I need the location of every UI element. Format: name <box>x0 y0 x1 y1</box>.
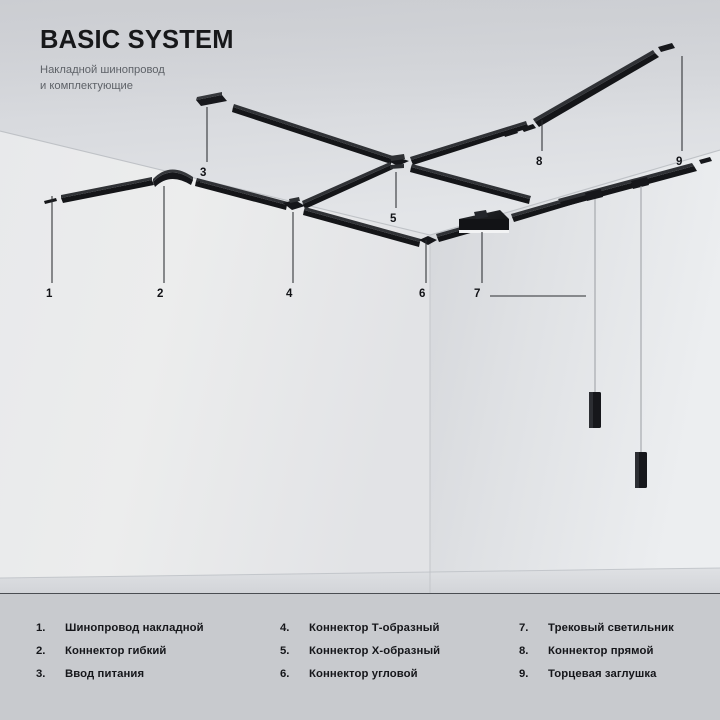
page-root: 123456789 BASIC SYSTEM Накладной шинопро… <box>0 0 720 720</box>
legend-item[interactable]: 4.Коннектор Т-образный <box>280 622 495 645</box>
page-subtitle: Накладной шинопроводи комплектующие <box>40 63 240 95</box>
legend-item-number: 8. <box>519 645 548 657</box>
callout-number-2[interactable]: 2 <box>157 289 163 301</box>
legend-item-label: Коннектор прямой <box>548 645 654 657</box>
callout-number-6[interactable]: 6 <box>419 289 425 301</box>
callout-number-5[interactable]: 5 <box>390 214 396 226</box>
legend-column-1: 1.Шинопровод накладной2.Коннектор гибкий… <box>36 622 266 691</box>
legend-item[interactable]: 6.Коннектор угловой <box>280 668 495 691</box>
legend-item-label: Трековый светильник <box>548 622 674 634</box>
legend-item[interactable]: 3.Ввод питания <box>36 668 266 691</box>
legend-item-label: Коннектор гибкий <box>65 645 166 657</box>
legend-item-label: Коннектор Т-образный <box>309 622 440 634</box>
callout-number-8[interactable]: 8 <box>536 157 542 169</box>
callout-number-7[interactable]: 7 <box>474 289 480 301</box>
pendant-body-1-highlight <box>589 392 593 428</box>
legend-item-number: 9. <box>519 668 548 680</box>
legend-item-label: Ввод питания <box>65 668 144 680</box>
legend-item-number: 2. <box>36 645 65 657</box>
legend-item[interactable]: 2.Коннектор гибкий <box>36 645 266 668</box>
legend-item[interactable]: 9.Торцевая заглушка <box>519 668 714 691</box>
legend-item-number: 3. <box>36 668 65 680</box>
legend-item[interactable]: 1.Шинопровод накладной <box>36 622 266 645</box>
callout-number-9[interactable]: 9 <box>676 157 682 169</box>
legend-column-2: 4.Коннектор Т-образный5.Коннектор Х-обра… <box>280 622 495 691</box>
page-title: BASIC SYSTEM <box>40 26 370 54</box>
legend-item[interactable]: 7.Трековый светильник <box>519 622 714 645</box>
legend-item-number: 5. <box>280 645 309 657</box>
pendant-body-2-highlight <box>635 452 639 488</box>
callout-number-4[interactable]: 4 <box>286 289 292 301</box>
legend-column-3: 7.Трековый светильник8.Коннектор прямой9… <box>519 622 714 691</box>
legend-panel: 1.Шинопровод накладной2.Коннектор гибкий… <box>0 594 720 720</box>
legend-item-number: 1. <box>36 622 65 634</box>
legend-item-label: Торцевая заглушка <box>548 668 657 680</box>
legend-item-number: 4. <box>280 622 309 634</box>
callout-number-1[interactable]: 1 <box>46 289 52 301</box>
legend-item[interactable]: 5.Коннектор Х-образный <box>280 645 495 668</box>
luminaire-lens <box>459 230 509 233</box>
legend-item-number: 7. <box>519 622 548 634</box>
legend-item[interactable]: 8.Коннектор прямой <box>519 645 714 668</box>
legend-item-label: Шинопровод накладной <box>65 622 204 634</box>
header-block: BASIC SYSTEM Накладной шинопроводи компл… <box>40 26 370 95</box>
legend-item-number: 6. <box>280 668 309 680</box>
legend-item-label: Коннектор Х-образный <box>309 645 440 657</box>
callout-number-3[interactable]: 3 <box>200 168 206 180</box>
legend-item-label: Коннектор угловой <box>309 668 418 680</box>
